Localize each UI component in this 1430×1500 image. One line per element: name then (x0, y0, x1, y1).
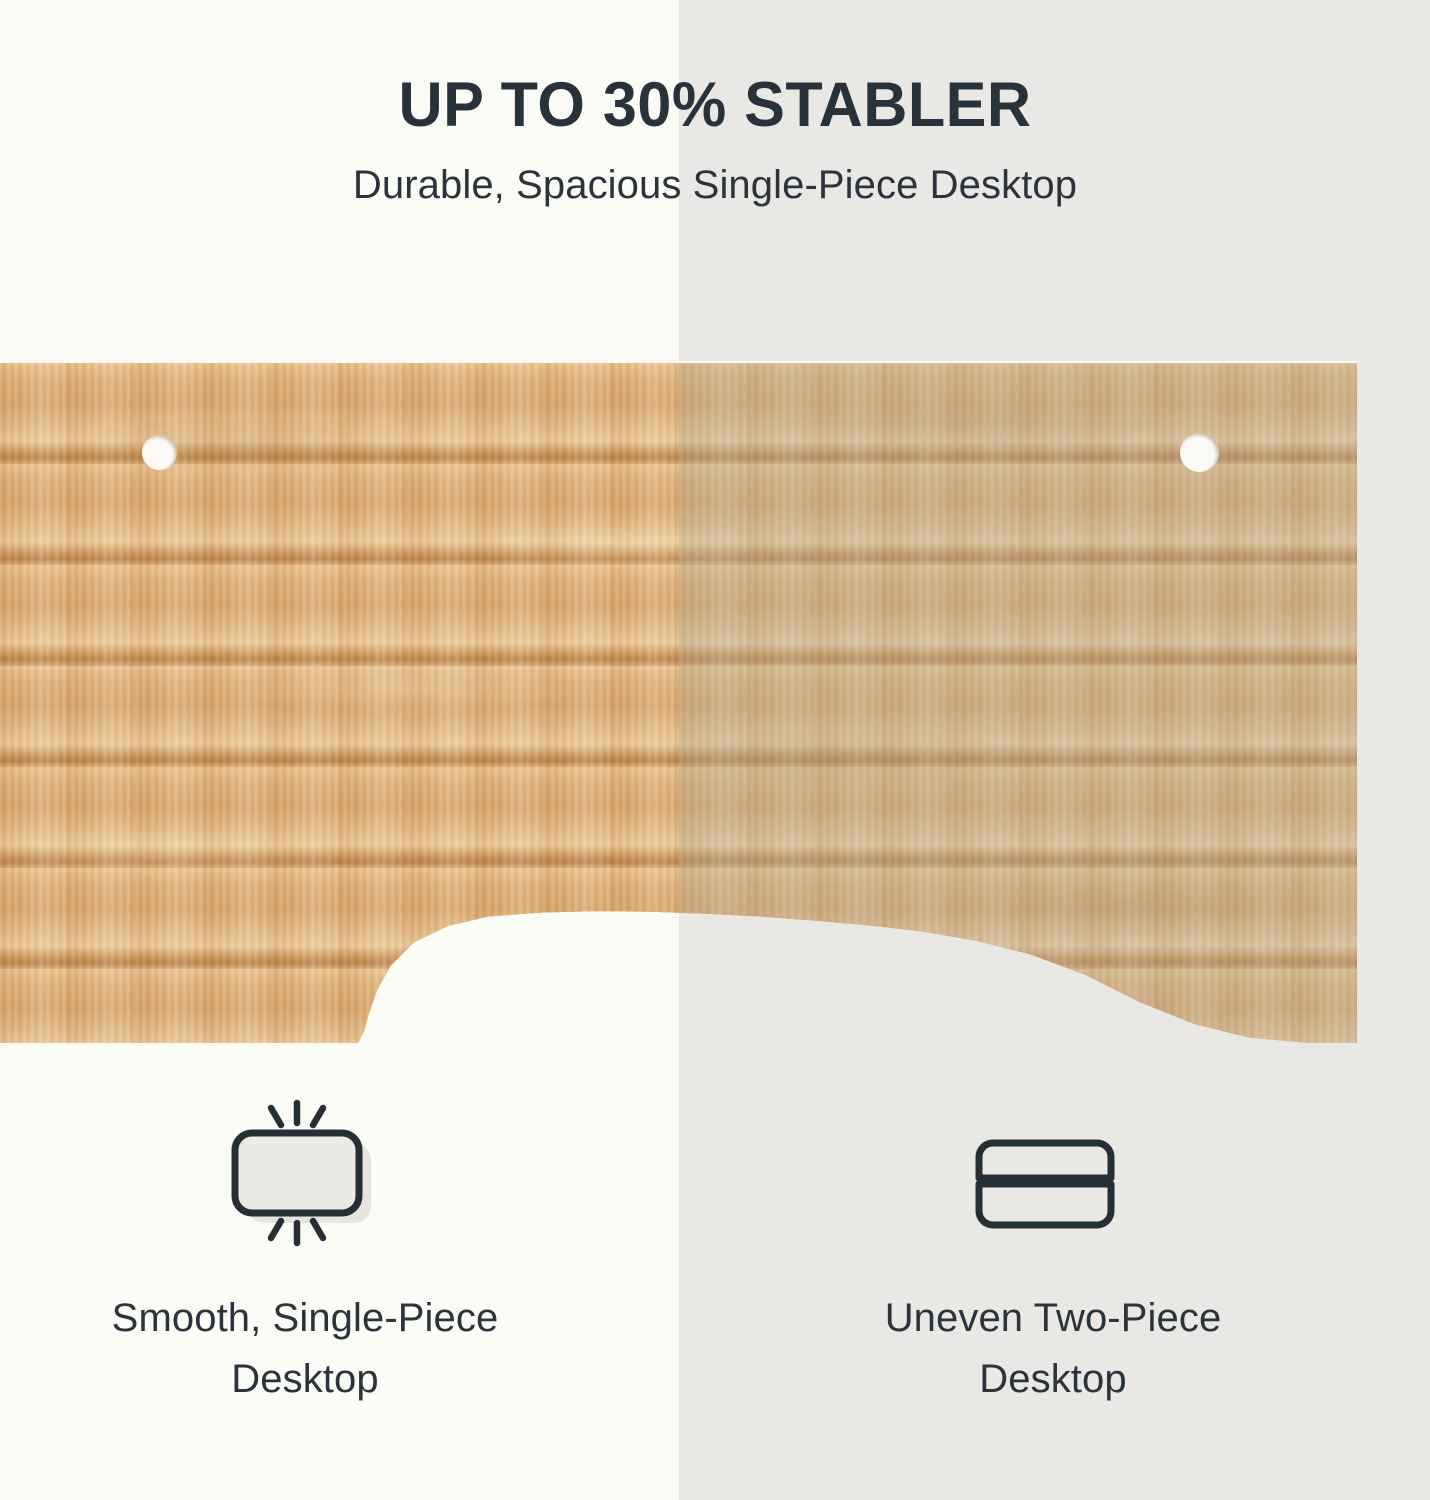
product-image-desktop (0, 363, 1357, 1043)
cable-grommet-hole-right (1180, 433, 1219, 472)
caption-line-2: Desktop (793, 1349, 1313, 1410)
page-subtitle: Durable, Spacious Single-Piece Desktop (0, 137, 1430, 205)
comparison-caption-left: Smooth, Single-Piece Desktop (45, 1288, 565, 1410)
comparison-caption-right: Uneven Two-Piece Desktop (793, 1288, 1313, 1410)
caption-line-2: Desktop (45, 1349, 565, 1410)
comparison-item-left-icon (105, 1095, 505, 1265)
cable-grommet-hole-left (142, 435, 177, 470)
caption-line-1: Smooth, Single-Piece (45, 1288, 565, 1349)
single-slab-shine-icon (205, 1095, 405, 1265)
bamboo-grain-mottle (0, 363, 1357, 1043)
comparison-icon-row (0, 1095, 1430, 1265)
header: UP TO 30% STABLER Durable, Spacious Sing… (0, 0, 1430, 205)
desktop-silhouette (0, 363, 1357, 1043)
page-title: UP TO 30% STABLER (21, 0, 1408, 137)
two-piece-slab-icon (953, 1095, 1153, 1265)
comparison-item-right-icon (853, 1095, 1253, 1265)
caption-line-1: Uneven Two-Piece (793, 1288, 1313, 1349)
